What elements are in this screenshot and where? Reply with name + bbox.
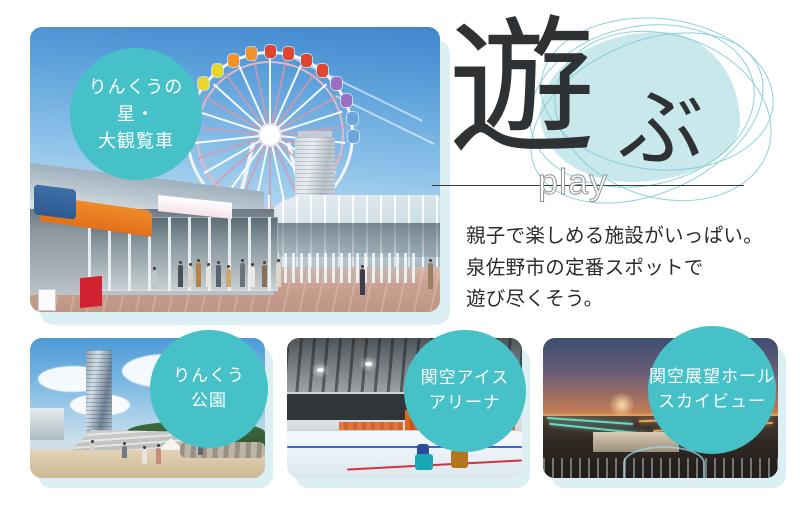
wheel-gondola: [246, 47, 257, 60]
arena-opening: [287, 394, 407, 420]
person: [142, 450, 147, 464]
fence-rail: [543, 458, 778, 478]
title-kanji: 遊: [448, 14, 596, 162]
ceiling-light: [365, 362, 372, 366]
skater-mascot-cape: [415, 454, 433, 470]
lead-paragraph: 親子で楽しめる施設がいっぱい。 泉佐野市の定番スポットで 遊び尽くそう。: [466, 220, 796, 315]
person: [262, 265, 267, 287]
play-section: りんくうの星・ 大観覧車 遊 ぶ play 親子で楽しめる施設がいっぱい。 泉佐…: [0, 0, 800, 515]
person: [152, 271, 157, 289]
wheel-hub: [260, 125, 280, 145]
person: [122, 446, 127, 458]
pavilion-glass-shadow: [268, 223, 440, 257]
no-smoking-sign: [38, 289, 56, 311]
person: [188, 267, 193, 287]
wheel-gondola: [212, 64, 223, 77]
person: [428, 263, 433, 289]
person: [206, 267, 211, 287]
wheel-gondola: [228, 54, 239, 67]
wheel-gondola: [283, 47, 294, 60]
person: [276, 263, 281, 287]
title-romaji: play: [538, 164, 608, 200]
hero-bubble-label[interactable]: りんくうの星・ 大観覧車: [70, 48, 202, 180]
wheel-gondola: [341, 94, 352, 107]
person: [240, 263, 245, 287]
park-pavilion: [30, 408, 64, 440]
person: [90, 444, 95, 455]
wheel-gondola: [331, 77, 342, 90]
person: [196, 263, 201, 287]
person: [156, 448, 161, 464]
wheel-gondola: [265, 45, 276, 58]
title-kana: ぶ: [618, 86, 704, 172]
person: [178, 265, 183, 287]
a-frame-sign: [80, 276, 102, 308]
wheel-gondola: [317, 64, 328, 77]
person: [216, 265, 221, 287]
thumb3-bubble-label[interactable]: 関空展望ホール スカイビュー: [648, 326, 776, 454]
title-art: 遊 ぶ play: [440, 8, 800, 208]
person: [226, 269, 231, 287]
thumb2-bubble-label[interactable]: 関空アイス アリーナ: [404, 330, 526, 452]
wheel-gondola: [301, 54, 312, 67]
wheel-gondola: [347, 112, 358, 125]
outdoor-chairs: [276, 253, 416, 283]
wheel-gondola: [348, 130, 359, 143]
person: [360, 269, 365, 295]
skater-mascot-cape: [451, 450, 468, 468]
shop-signboard: [34, 184, 76, 219]
person: [250, 267, 255, 287]
thumb1-bubble-label[interactable]: りんくう 公園: [150, 330, 268, 448]
ceiling-light: [317, 368, 324, 372]
